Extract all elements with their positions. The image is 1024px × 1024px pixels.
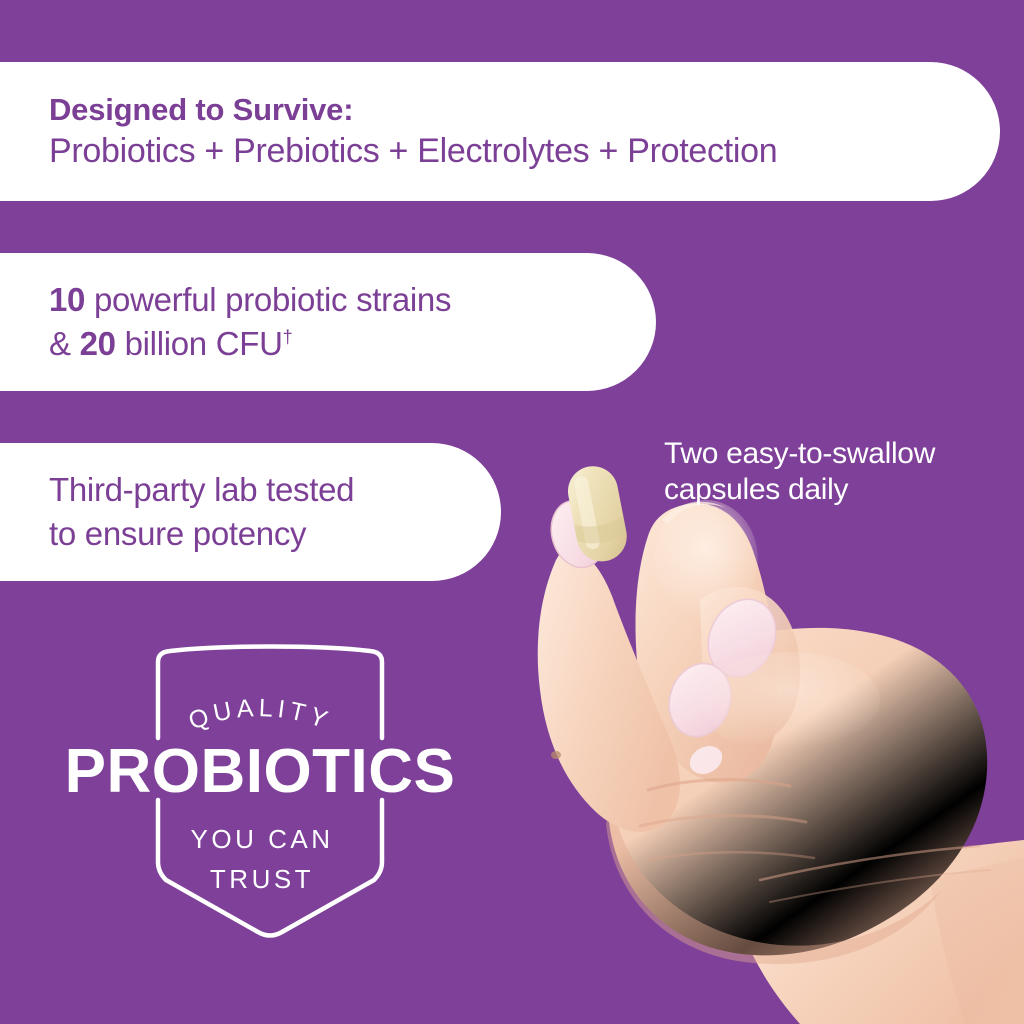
- banner-third-party-tested: Third-party lab tested to ensure potency: [0, 443, 501, 581]
- banner-1-line-2: Probiotics + Prebiotics + Electrolytes +…: [49, 132, 1000, 171]
- footnote-dagger-icon: †: [283, 327, 293, 347]
- cfu-prefix: &: [49, 325, 80, 362]
- strain-count-label: powerful probiotic strains: [85, 281, 451, 318]
- banner-3-line-1: Third-party lab tested: [49, 471, 501, 509]
- banner-strains-and-cfu: 10 powerful probiotic strains & 20 billi…: [0, 253, 656, 391]
- banner-1-line-1: Designed to Survive:: [49, 92, 1000, 128]
- badge-probiotics-text: PROBIOTICS: [65, 737, 456, 806]
- banner-3-line-2: to ensure potency: [49, 515, 501, 553]
- banner-designed-to-survive: Designed to Survive: Probiotics + Prebio…: [0, 62, 1000, 201]
- cfu-label: billion CFU: [116, 325, 283, 362]
- banner-2-line-2: & 20 billion CFU†: [49, 325, 656, 363]
- quality-probiotics-badge: QUALITY PROBIOTICS YOU CAN TRUST: [30, 640, 490, 950]
- caption-line-2: capsules daily: [664, 472, 935, 508]
- product-benefits-poster: Designed to Survive: Probiotics + Prebio…: [0, 0, 1024, 1024]
- badge-trust-text: TRUST: [210, 864, 314, 894]
- strain-count: 10: [49, 281, 85, 318]
- caption-line-1: Two easy-to-swallow: [664, 436, 935, 472]
- banner-2-line-1: 10 powerful probiotic strains: [49, 281, 656, 319]
- badge-you-can-text: YOU CAN: [191, 824, 334, 854]
- badge-quality-text: QUALITY: [185, 694, 335, 736]
- cfu-count: 20: [80, 325, 116, 362]
- capsule-dosage-caption: Two easy-to-swallow capsules daily: [664, 436, 935, 508]
